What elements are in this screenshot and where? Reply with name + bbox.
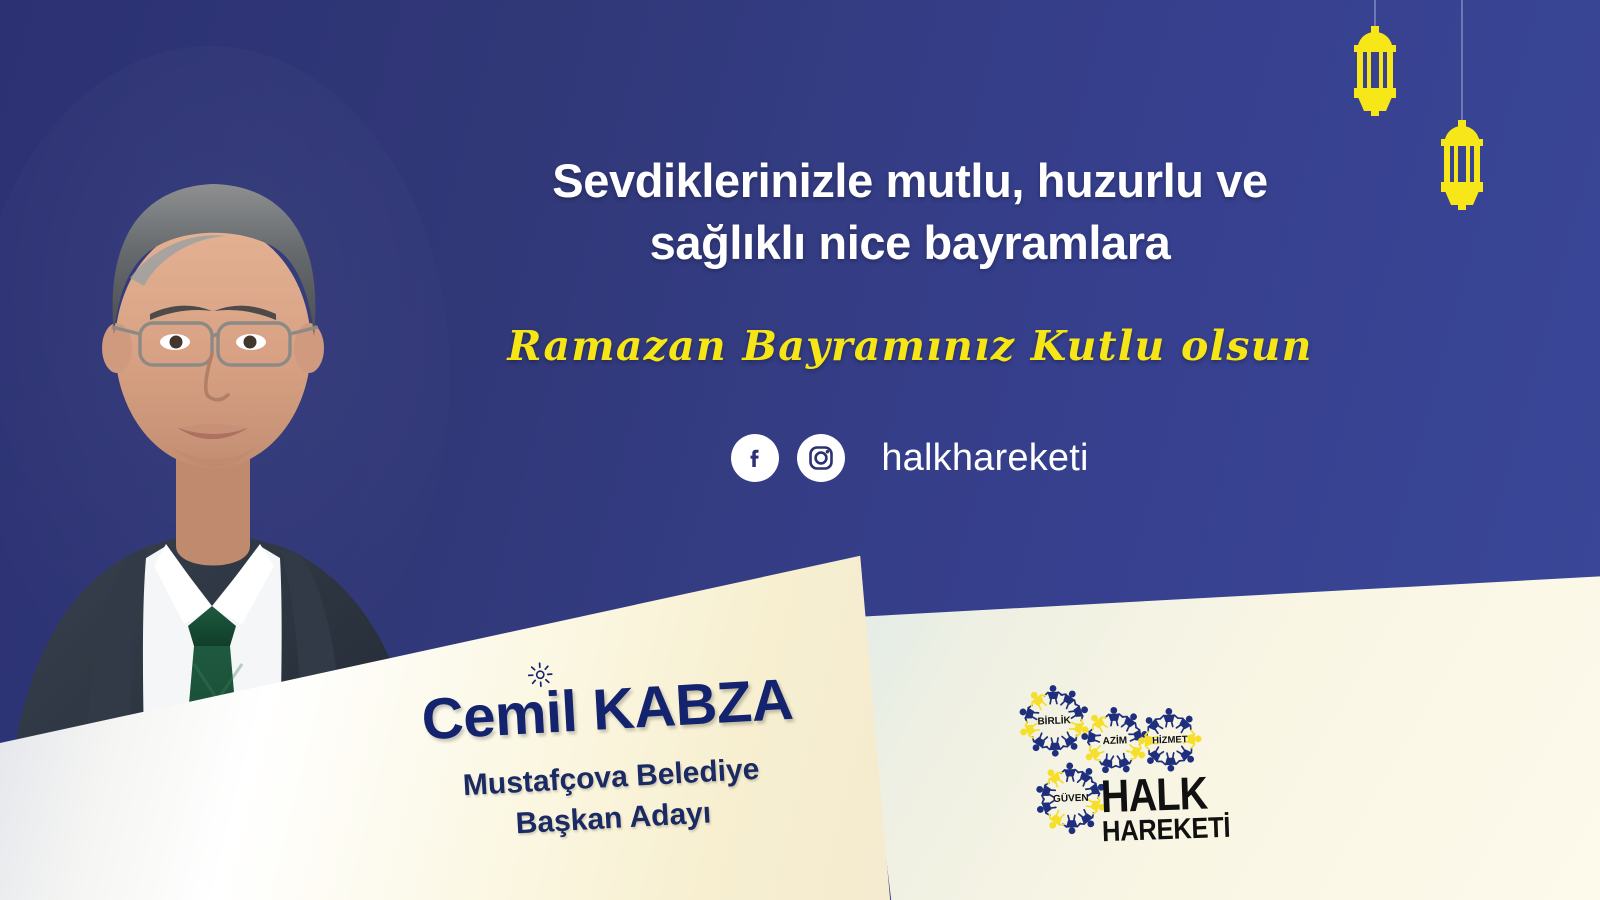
- social-handle[interactable]: halkhareketi: [881, 437, 1088, 480]
- sun-ornament-icon: [527, 661, 554, 688]
- candidate-name-block: Cemil KABZA Mustafçova Belediye Başkan A…: [326, 660, 894, 855]
- page-title: Sevdiklerinizle mutlu, huzurlu ve sağlık…: [430, 150, 1390, 274]
- lantern-string: [1374, 0, 1376, 28]
- party-logo-wordmark: HALK HAREKETİ: [1100, 770, 1248, 846]
- logo-word-hareketi: HAREKETİ: [1102, 815, 1231, 846]
- svg-text:BİRLİK: BİRLİK: [1037, 713, 1072, 727]
- facebook-button[interactable]: [731, 434, 779, 482]
- greeting-subtitle: Ramazan Bayramınız Kutlu olsun: [430, 322, 1390, 370]
- instagram-icon: [806, 443, 836, 473]
- svg-text:AZİM: AZİM: [1102, 733, 1127, 747]
- social-row: halkhareketi: [430, 434, 1390, 482]
- logo-word-halk: HALK: [1100, 771, 1227, 818]
- headline-line-2: sağlıklı nice bayramlara: [430, 212, 1390, 274]
- svg-text:HİZMET: HİZMET: [1152, 734, 1188, 746]
- svg-text:GÜVEN: GÜVEN: [1053, 791, 1089, 805]
- lantern-string: [1461, 0, 1463, 122]
- headline-line-1: Sevdiklerinizle mutlu, huzurlu ve: [430, 150, 1390, 212]
- lantern-icon: [1345, 26, 1405, 122]
- lantern-2: [1432, 0, 1492, 215]
- lantern-1: [1345, 0, 1405, 120]
- poster-canvas: Sevdiklerinizle mutlu, huzurlu ve sağlık…: [0, 0, 1600, 900]
- instagram-button[interactable]: [797, 434, 845, 482]
- facebook-icon: [742, 445, 768, 471]
- party-logo: BİRLİK AZİM: [1005, 674, 1269, 873]
- lantern-icon: [1432, 120, 1492, 216]
